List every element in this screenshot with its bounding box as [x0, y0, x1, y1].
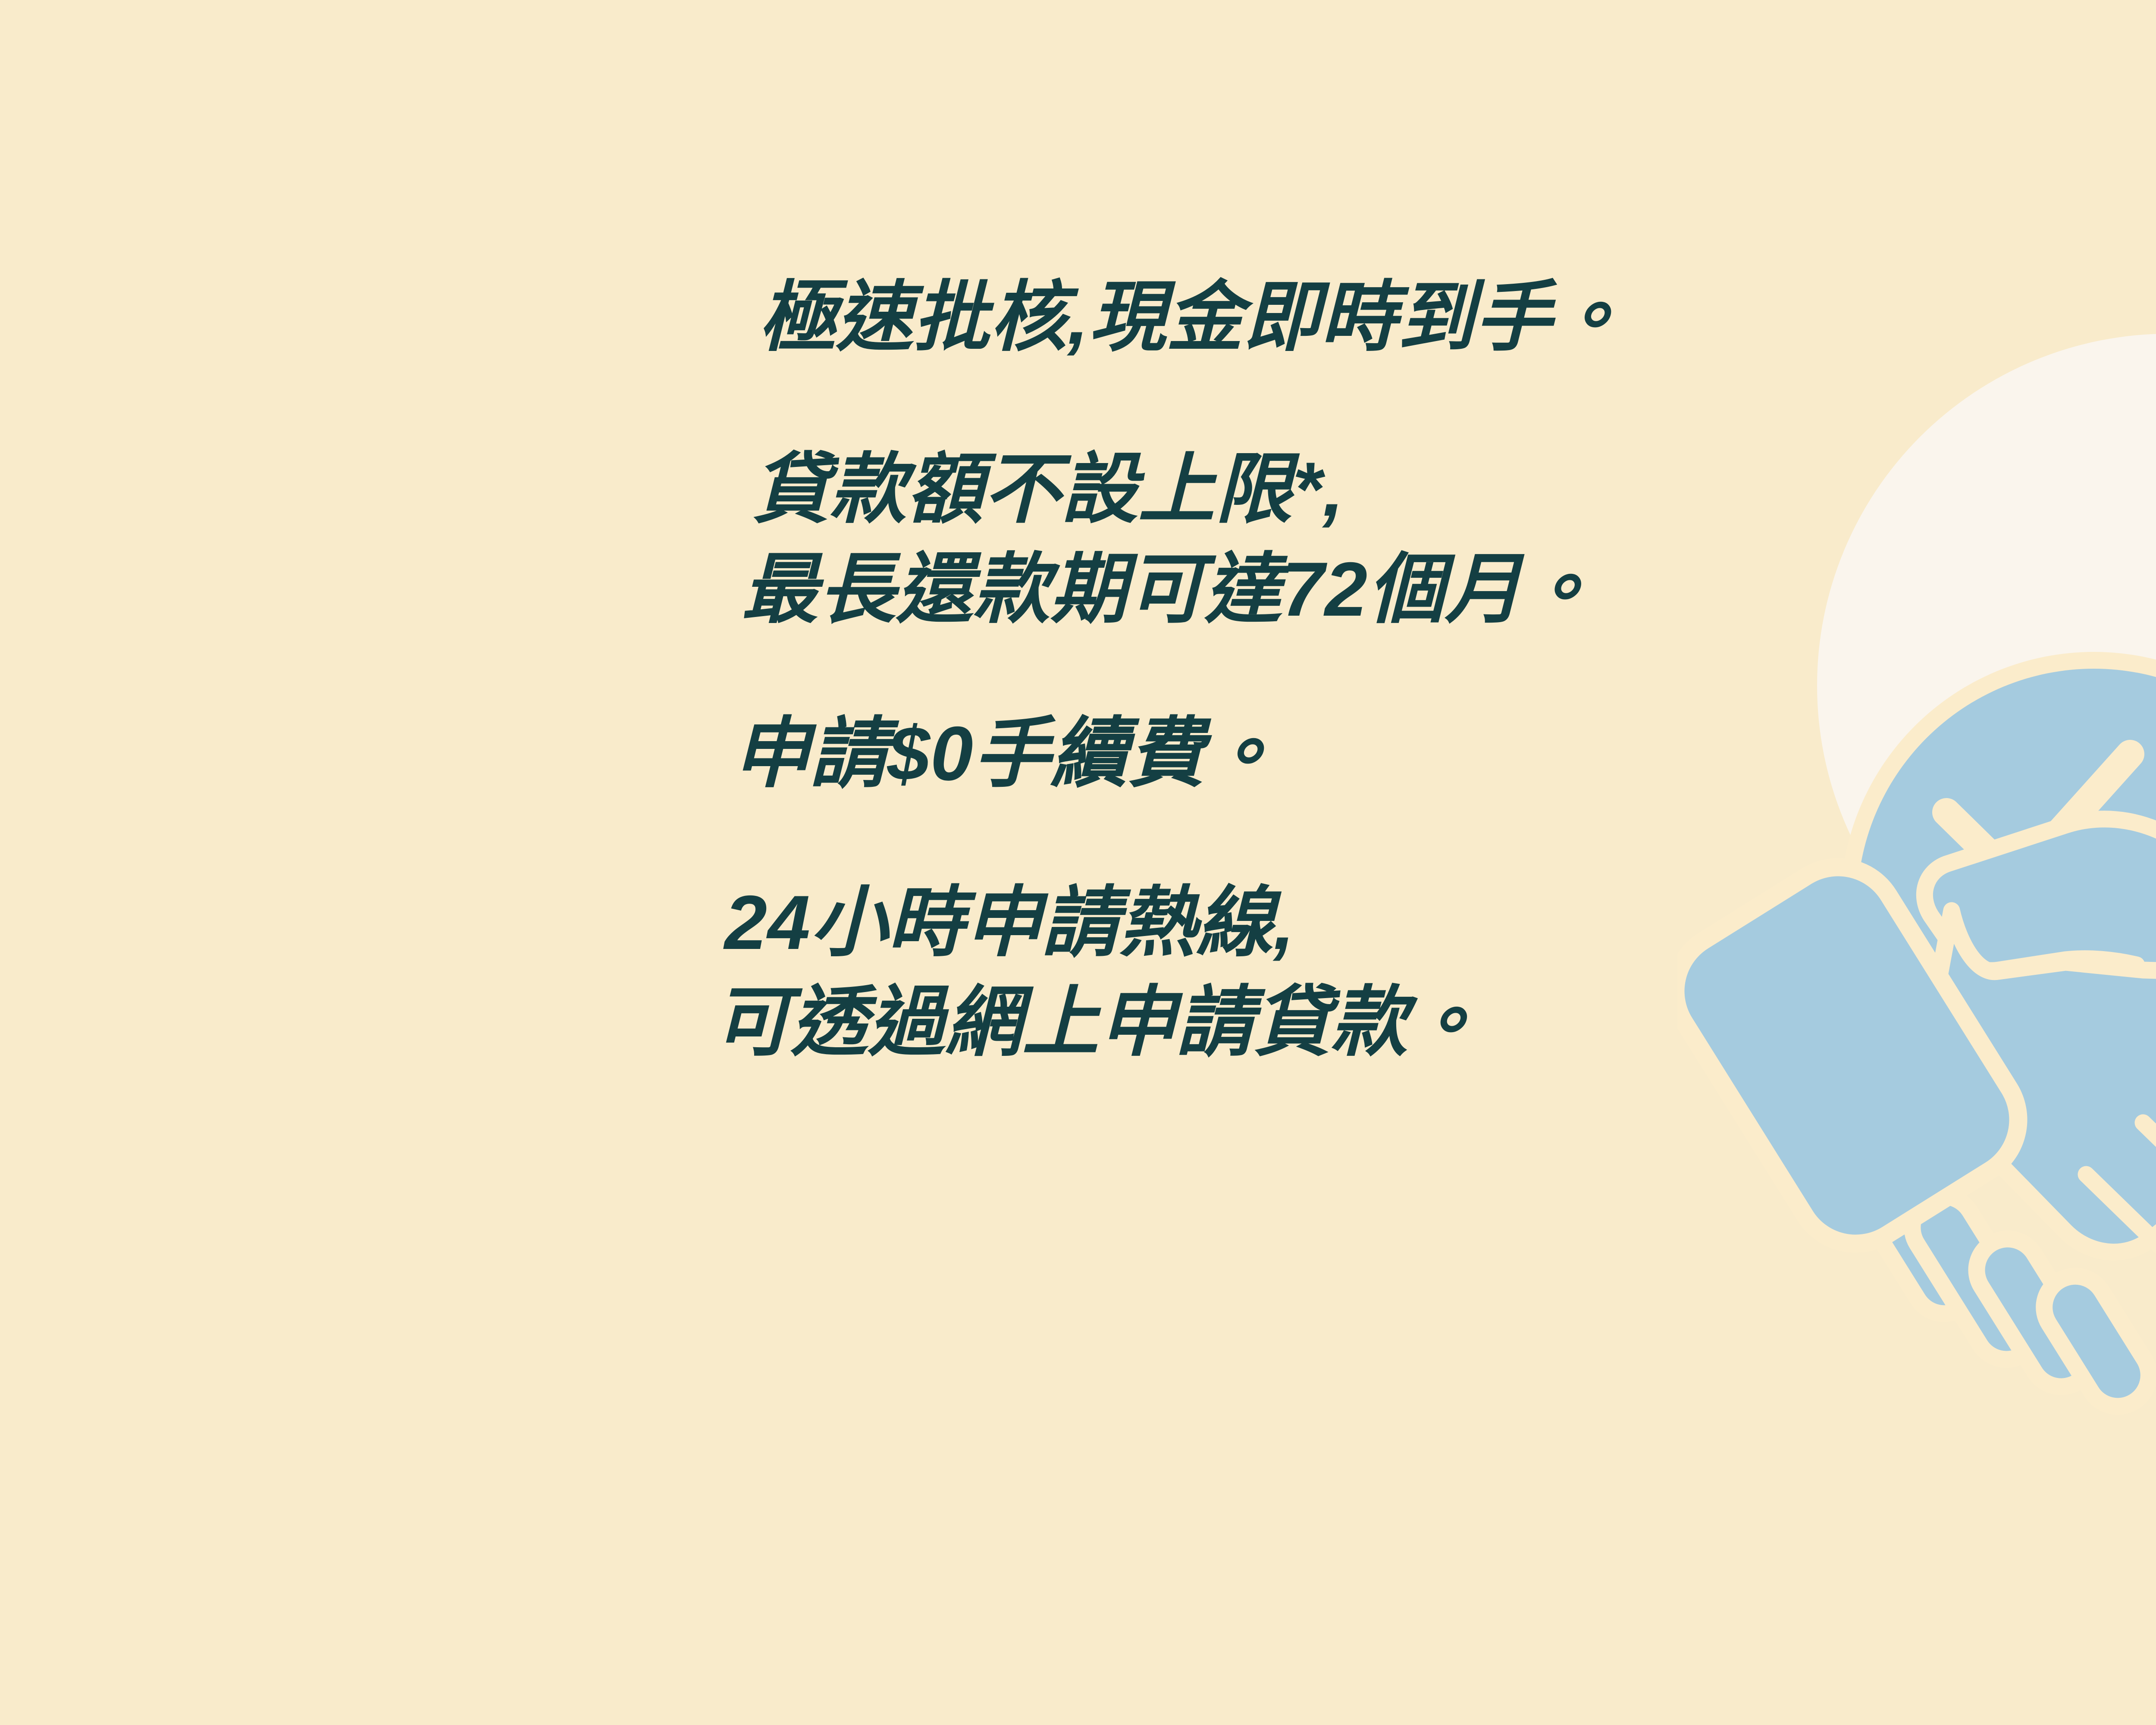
feature-line: 可透過網上申請貸款。 [604, 972, 1682, 1072]
feature-hotline: 24小時申請熱線, 可透過網上申請貸款。 [604, 873, 1682, 1072]
feature-line: 申請$0手續費。 [604, 704, 1682, 803]
feature-zero-fee: 申請$0手續費。 [604, 704, 1682, 803]
handshake-with-checkmark-illustration [1677, 297, 2156, 1436]
feature-loan-amount: 貸款額不設上限*, 最長還款期可達72個月。 [604, 439, 1682, 639]
feature-line: 極速批核,現金即時到手。 [604, 267, 1682, 367]
feature-line: 貸款額不設上限*, [604, 439, 1682, 539]
feature-copy-list: 極速批核,現金即時到手。 貸款額不設上限*, 最長還款期可達72個月。 申請$0… [0, 267, 1682, 1072]
feature-fast-approval: 極速批核,現金即時到手。 [604, 267, 1682, 367]
feature-line: 24小時申請熱線, [604, 873, 1682, 972]
feature-line: 最長還款期可達72個月。 [604, 539, 1682, 639]
promo-banner: 極速批核,現金即時到手。 貸款額不設上限*, 最長還款期可達72個月。 申請$0… [0, 0, 2156, 1725]
